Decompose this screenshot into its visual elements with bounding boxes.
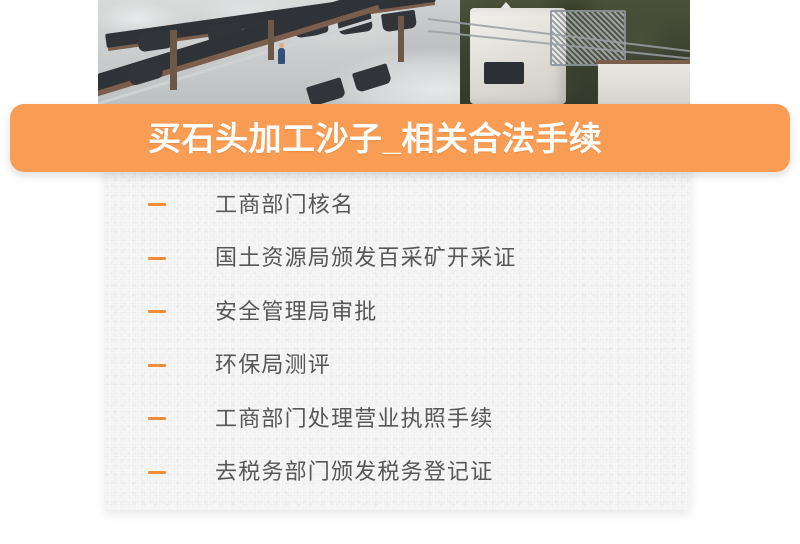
dash-bullet-icon bbox=[148, 471, 166, 474]
list-item: 去税务部门颁发税务登记证 bbox=[105, 446, 690, 500]
list-item: 国土资源局颁发百采矿开采证 bbox=[105, 232, 690, 286]
list-item-label: 工商部门处理营业执照手续 bbox=[215, 408, 493, 430]
list-item-label: 工商部门核名 bbox=[215, 194, 354, 216]
page-title: 买石头加工沙子_相关合法手续 bbox=[148, 122, 602, 155]
support-column bbox=[398, 16, 404, 62]
page-root: 买石头加工沙子_相关合法手续 工商部门核名 国土资源局颁发百采矿开采证 安全管理… bbox=[0, 0, 800, 544]
title-banner: 买石头加工沙子_相关合法手续 bbox=[10, 104, 790, 172]
dash-bullet-icon bbox=[148, 203, 166, 206]
dash-bullet-icon bbox=[148, 417, 166, 420]
list-item-label: 环保局测评 bbox=[215, 354, 331, 376]
platform-rail bbox=[596, 60, 690, 64]
list-item-label: 安全管理局审批 bbox=[215, 301, 377, 323]
list-item: 工商部门处理营业执照手续 bbox=[105, 392, 690, 446]
hero-photo bbox=[98, 0, 690, 112]
support-column bbox=[268, 20, 274, 60]
list-item: 环保局测评 bbox=[105, 339, 690, 393]
dash-bullet-icon bbox=[148, 257, 166, 260]
procedure-list: 工商部门核名 国土资源局颁发百采矿开采证 安全管理局审批 环保局测评 工商部门处… bbox=[105, 178, 690, 499]
dash-bullet-icon bbox=[148, 364, 166, 367]
list-item-label: 国土资源局颁发百采矿开采证 bbox=[215, 247, 517, 269]
list-item-label: 去税务部门颁发税务登记证 bbox=[215, 461, 493, 483]
worker-figure bbox=[278, 48, 285, 64]
crusher-discharge bbox=[484, 62, 524, 84]
list-item: 工商部门核名 bbox=[105, 178, 690, 232]
dash-bullet-icon bbox=[148, 310, 166, 313]
list-item: 安全管理局审批 bbox=[105, 285, 690, 339]
support-column bbox=[170, 30, 177, 90]
